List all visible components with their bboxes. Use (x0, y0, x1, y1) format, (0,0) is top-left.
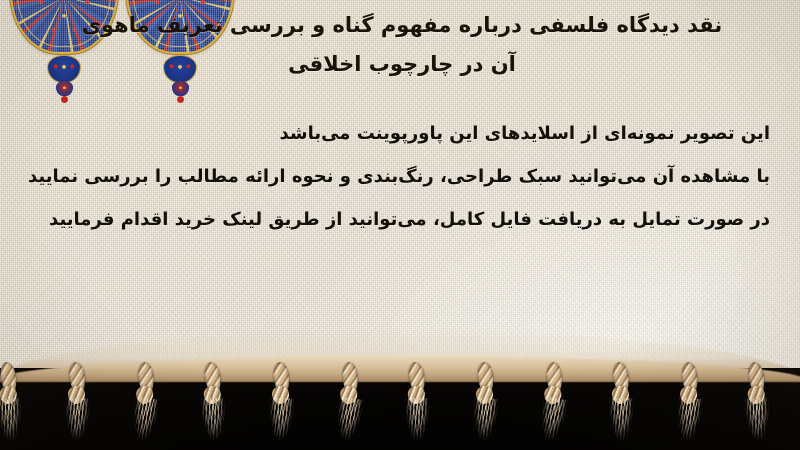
tassel-threads (744, 397, 771, 446)
fringe-tassel (129, 356, 161, 449)
tassel-threads (405, 398, 430, 446)
medallion-pendant-dot (61, 96, 68, 103)
tassel-threads (130, 397, 159, 447)
tassel-threads (64, 398, 89, 447)
slide-title: نقد دیدگاه فلسفی درباره مفهوم گناه و برر… (22, 6, 782, 84)
tassel-threads (471, 397, 498, 447)
fringe-tassel (197, 356, 230, 449)
fringe-tassel (0, 355, 26, 448)
fringe-tassels (0, 356, 800, 450)
tassel-threads (268, 397, 294, 446)
tassel-threads (0, 397, 23, 446)
slide-title-line-2: آن در چارچوب اخلاقی (22, 45, 782, 84)
medallion-pendant-dot (177, 96, 184, 103)
fringe-tassel (401, 356, 433, 449)
tassel-threads (333, 397, 363, 448)
slide-body-text: این تصویر نمونه‌ای از اسلایدهای این پاور… (25, 112, 770, 241)
tassel-threads (609, 398, 633, 446)
fringe-tassel (605, 356, 636, 448)
slide-body-line-1: این تصویر نمونه‌ای از اسلایدهای این پاور… (25, 112, 770, 155)
tassel-threads (201, 398, 227, 447)
fringe-tassel (536, 355, 570, 448)
fringe-tassel (740, 355, 774, 448)
fringe-tassel (673, 356, 704, 448)
fringe-tassel (266, 356, 296, 448)
tassel-threads (674, 397, 702, 447)
fringe-tassel (470, 356, 501, 448)
fringe-tassel (62, 356, 93, 448)
presentation-slide: نقد دیدگاه فلسفی درباره مفهوم گناه و برر… (0, 0, 800, 450)
tassel-threads (537, 396, 568, 447)
slide-title-line-1: نقد دیدگاه فلسفی درباره مفهوم گناه و برر… (22, 6, 782, 45)
slide-body-line-3: در صورت تمایل به دریافت فایل کامل، می‌تو… (25, 198, 770, 241)
slide-body-line-2: با مشاهده آن می‌توانید سبک طراحی، رنگ‌بن… (25, 155, 770, 198)
fringe-tassel (333, 356, 366, 449)
